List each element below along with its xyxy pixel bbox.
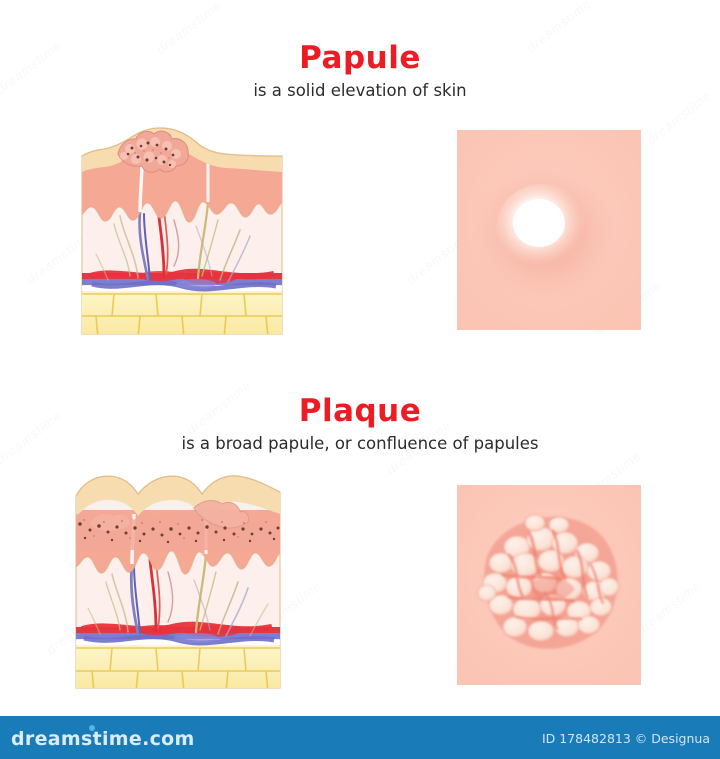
papule-skin-cross-section [78, 116, 286, 338]
plaque-subtitle: is a broad papule, or confluence of papu… [0, 434, 720, 453]
watermark-text: dreamstime [634, 578, 705, 638]
plaque-surface-view [457, 485, 641, 685]
logo-dot-icon [89, 725, 95, 731]
dreamstime-logo-text: dreamstime.com [11, 728, 195, 750]
dreamstime-logo[interactable]: dreamstime.com [11, 728, 195, 750]
papule-surface-view [457, 130, 641, 330]
image-id-credit: ID 178482813 © Designua [542, 731, 710, 746]
illustration-canvas: dreamstime dreamstime dreamstime dreamst… [0, 0, 720, 759]
footer-bar: dreamstime.com ID 178482813 © Designua [0, 716, 720, 759]
papule-title: Papule [0, 40, 720, 76]
papule-subtitle: is a solid elevation of skin [0, 81, 720, 100]
plaque-skin-cross-section [72, 470, 284, 692]
plaque-title: Plaque [0, 393, 720, 429]
